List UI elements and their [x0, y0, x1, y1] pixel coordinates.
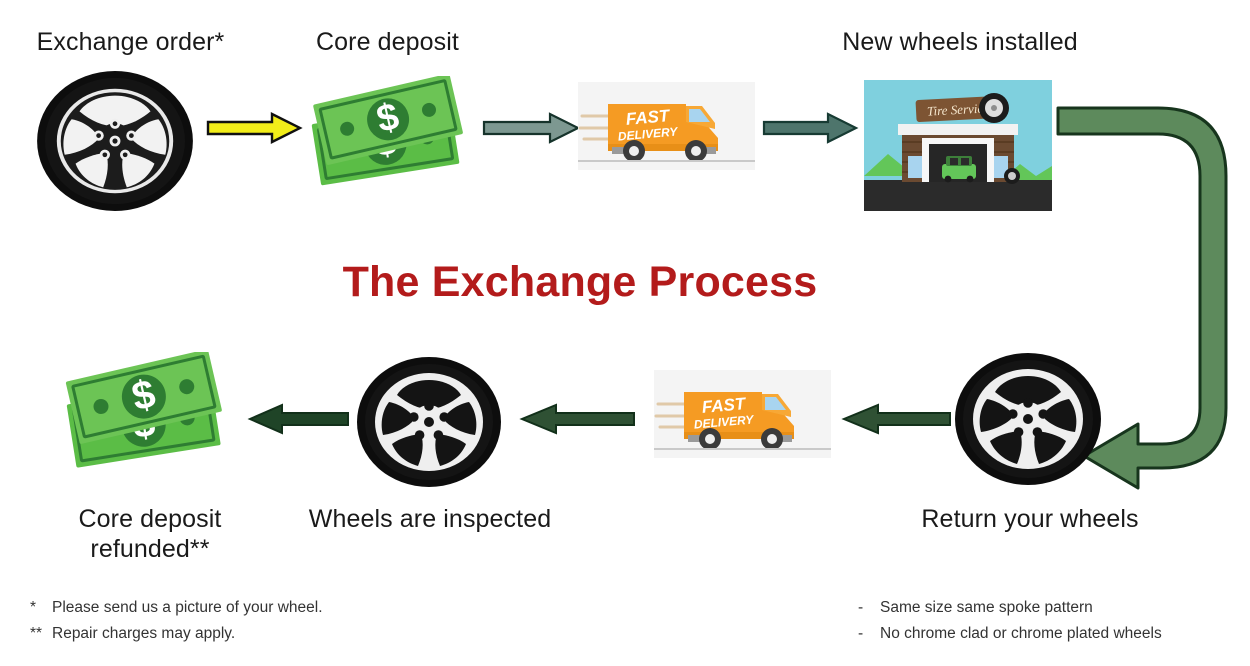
footnote-left-1: *Please send us a picture of your wheel.	[30, 595, 323, 621]
delivery-truck-icon: FAST DELIVERY	[654, 370, 831, 458]
footnote-left-2: **Repair charges may apply.	[30, 621, 323, 647]
footnote-text: Same size same spoke pattern	[880, 599, 1093, 616]
step-label-wheels-inspected: Wheels are inspected	[295, 504, 565, 534]
footnote-text: Repair charges may apply.	[52, 625, 235, 642]
footnotes-right: -Same size same spoke pattern -No chrome…	[858, 595, 1162, 647]
step-label-core-deposit-refunded: Core deposit refunded**	[30, 504, 270, 564]
exchange-process-diagram: Exchange order* Core deposit New wheels …	[0, 0, 1250, 666]
arrow-truck-to-inspected	[518, 403, 636, 435]
step-label-return-your-wheels: Return your wheels	[895, 504, 1165, 534]
footnote-text: Please send us a picture of your wheel.	[52, 599, 323, 616]
alloy-wheel-icon	[356, 356, 502, 488]
arrow-return-to-truck	[840, 403, 952, 435]
page-title: The Exchange Process	[0, 258, 1160, 307]
cash-banknotes-icon: $ $	[305, 76, 477, 204]
delivery-truck-icon: FAST DELIVERY	[578, 82, 755, 170]
footnote-right-2: -No chrome clad or chrome plated wheels	[858, 621, 1162, 647]
arrow-deposit-to-truck	[482, 112, 580, 144]
arrow-truck-to-garage	[762, 112, 858, 144]
step-label-core-deposit: Core deposit	[275, 27, 500, 57]
step-label-new-wheels-installed: New wheels installed	[810, 27, 1110, 57]
footnote-marker: *	[30, 595, 52, 621]
footnote-marker: -	[858, 595, 880, 621]
footnote-marker: **	[30, 621, 52, 647]
tire-service-garage-icon: Tire Service	[864, 80, 1052, 211]
footnote-right-1: -Same size same spoke pattern	[858, 595, 1162, 621]
arrow-order-to-deposit	[206, 112, 302, 144]
footnote-text: No chrome clad or chrome plated wheels	[880, 625, 1162, 642]
footnote-marker: -	[858, 621, 880, 647]
step-label-exchange-order: Exchange order*	[8, 27, 253, 57]
footnotes-left: *Please send us a picture of your wheel.…	[30, 595, 323, 647]
cash-banknotes-icon: $ $	[58, 352, 238, 486]
alloy-wheel-icon	[36, 70, 194, 212]
arrow-inspected-to-refunded	[246, 403, 350, 435]
alloy-wheel-icon	[954, 352, 1102, 486]
